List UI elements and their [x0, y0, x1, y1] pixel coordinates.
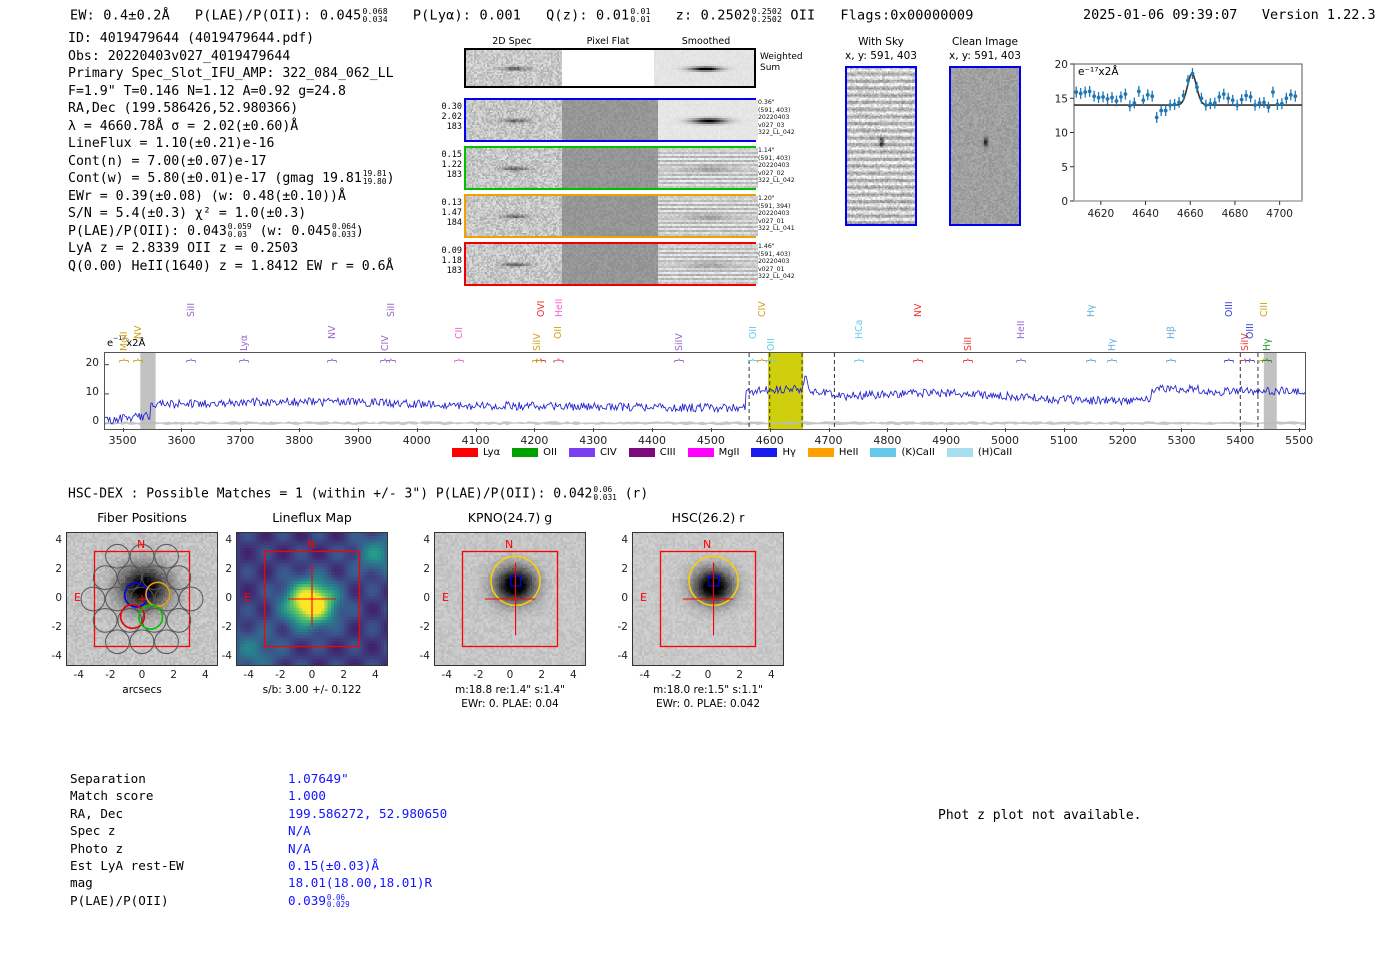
panel-image [434, 532, 586, 666]
match-table-row: RA, Dec199.586272, 52.980650 [70, 805, 447, 822]
match-table-row: Separation1.07649" [70, 770, 447, 787]
compass-east: E [640, 591, 647, 604]
panel-ytick: 4 [608, 534, 628, 546]
compass-north: N [137, 538, 145, 551]
panel-image [632, 532, 784, 666]
match-table-value: N/A [288, 841, 311, 856]
panel-xtick: 0 [496, 669, 524, 681]
compass-east: E [244, 591, 251, 604]
panel-ytick: 2 [212, 563, 232, 575]
panel-xtick: 4 [559, 669, 587, 681]
match-table-value: 0.15(±0.03)Å [288, 858, 379, 873]
panel-xtick: -4 [433, 669, 461, 681]
panel-ytick: 0 [410, 592, 430, 604]
panel-ytick: 2 [608, 563, 628, 575]
match-table-row: Photo zN/A [70, 840, 447, 857]
compass-north: N [505, 538, 513, 551]
match-table-row: mag18.01(18.00,18.01)R [70, 874, 447, 891]
panel-xtick: -4 [631, 669, 659, 681]
match-table-value: 18.01(18.00,18.01)R [288, 875, 432, 890]
match-table-key: Spec z [70, 822, 288, 839]
panel-ytick: 2 [42, 563, 62, 575]
match-table-key: P(LAE)/P(OII) [70, 892, 288, 909]
panel-ytick: -4 [410, 650, 430, 662]
panel-ytick: 0 [42, 592, 62, 604]
panel-caption-secondary: EWr: 0. PLAE: 0.042 [610, 698, 806, 710]
panel-caption: m:18.8 re:1.4" s:1.4" [412, 684, 608, 696]
match-table-value: N/A [288, 823, 311, 838]
panel-caption: s/b: 3.00 +/- 0.122 [214, 684, 410, 696]
panel-xtick: 2 [726, 669, 754, 681]
panel-xtick: -2 [464, 669, 492, 681]
panel-ytick: 0 [608, 592, 628, 604]
match-table-key: Separation [70, 770, 288, 787]
panel-xtick: -2 [266, 669, 294, 681]
panel-xtick: -2 [96, 669, 124, 681]
match-table: Separation1.07649"Match score1.000RA, De… [70, 770, 447, 909]
photoz-note: Phot z plot not available. [938, 808, 1142, 823]
match-table-row: Spec zN/A [70, 822, 447, 839]
match-table-value: 1.07649" [288, 771, 349, 786]
panel-xtick: 4 [361, 669, 389, 681]
compass-north: N [307, 538, 315, 551]
match-table-row: Est LyA rest-EW0.15(±0.03)Å [70, 857, 447, 874]
panel-ytick: -4 [42, 650, 62, 662]
match-table-value: 0.039 [288, 893, 326, 908]
match-table-value: 1.000 [288, 788, 326, 803]
panel-xtick: 0 [694, 669, 722, 681]
panel-ytick: 4 [42, 534, 62, 546]
match-table-key: mag [70, 874, 288, 891]
match-table-lo: 0.029 [327, 901, 350, 909]
panel-xlabel: arcsecs [66, 684, 218, 696]
panel-xtick: 2 [160, 669, 188, 681]
compass-north: N [703, 538, 711, 551]
panel-ytick: 0 [212, 592, 232, 604]
match-table-key: RA, Dec [70, 805, 288, 822]
match-table-value: 199.586272, 52.980650 [288, 806, 447, 821]
panel-xtick: -2 [662, 669, 690, 681]
panel-xtick: 4 [757, 669, 785, 681]
panel-xtick: 0 [128, 669, 156, 681]
panel-ytick: -4 [212, 650, 232, 662]
panel-xtick: 4 [191, 669, 219, 681]
panel-title: KPNO(24.7) g [404, 510, 616, 525]
panel-ytick: 4 [212, 534, 232, 546]
match-table-row: P(LAE)/P(OII)0.0390.060.029 [70, 892, 447, 909]
panel-image [236, 532, 388, 666]
panel-xtick: 2 [330, 669, 358, 681]
compass-east: E [442, 591, 449, 604]
panel-ytick: -2 [212, 621, 232, 633]
match-table-value-range: 0.060.029 [327, 894, 350, 909]
compass-east: E [74, 591, 81, 604]
panel-ytick: -4 [608, 650, 628, 662]
panel-caption-secondary: EWr: 0. PLAE: 0.04 [412, 698, 608, 710]
panel-ytick: -2 [608, 621, 628, 633]
panel-ytick: 4 [410, 534, 430, 546]
panel-title: Lineflux Map [206, 510, 418, 525]
panel-image [66, 532, 218, 666]
match-table-key: Photo z [70, 840, 288, 857]
match-table-key: Match score [70, 787, 288, 804]
panel-title: HSC(26.2) r [602, 510, 814, 525]
panel-caption: m:18.0 re:1.5" s:1.1" [610, 684, 806, 696]
match-table-row: Match score1.000 [70, 787, 447, 804]
panel-ytick: -2 [410, 621, 430, 633]
panel-xtick: -4 [235, 669, 263, 681]
match-table-key: Est LyA rest-EW [70, 857, 288, 874]
panel-xtick: -4 [65, 669, 93, 681]
panel-xtick: 2 [528, 669, 556, 681]
panel-ytick: -2 [42, 621, 62, 633]
panel-xtick: 0 [298, 669, 326, 681]
panel-ytick: 2 [410, 563, 430, 575]
